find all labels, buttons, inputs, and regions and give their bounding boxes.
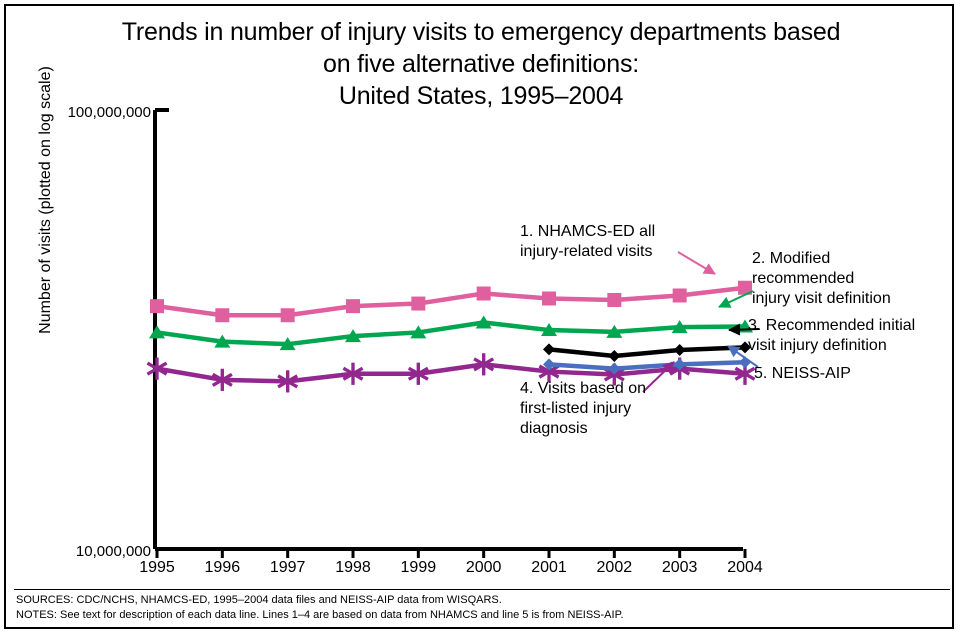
x-axis-tick-label-1996: 1996 — [192, 559, 252, 577]
series-2 — [149, 316, 753, 351]
footer-notes: SOURCES: CDC/NCHS, NHAMCS-ED, 1995–2004 … — [16, 593, 946, 623]
footer-divider — [14, 589, 950, 590]
arrow-to-series-2 — [719, 291, 753, 307]
annotation-series-3: 3. Recommended initial visit injury defi… — [748, 316, 948, 356]
axis-lines — [155, 110, 743, 549]
x-axis-tick-label-2000: 2000 — [454, 559, 514, 577]
chart-frame: Trends in number of injury visits to eme… — [4, 4, 954, 629]
annotation-series-3-line-1: 3. Recommended initial — [748, 316, 948, 336]
y-axis-bottom-tick-label: 10,000,000 — [46, 543, 151, 560]
x-axis-tick-label-2003: 2003 — [650, 559, 710, 577]
series-3 — [543, 341, 751, 362]
x-axis-tick-label-1998: 1998 — [323, 559, 383, 577]
annotation-series-5-line-1: 5. NEISS-AIP — [754, 364, 944, 384]
annotation-series-2: 2. Modified recommended injury visit def… — [752, 249, 952, 309]
annotation-series-1-line-1: 1. NHAMCS-ED all — [520, 222, 700, 242]
chart-title: Trends in number of injury visits to eme… — [36, 16, 926, 112]
annotation-series-1-line-2: injury-related visits — [520, 242, 700, 262]
footer-notes-line: NOTES: See text for description of each … — [16, 608, 946, 623]
footer-sources: SOURCES: CDC/NCHS, NHAMCS-ED, 1995–2004 … — [16, 593, 946, 608]
x-axis-tick-label-1995: 1995 — [127, 559, 187, 577]
x-axis-tick-label-2004: 2004 — [715, 559, 775, 577]
annotation-series-2-line-1: 2. Modified — [752, 249, 952, 269]
annotation-series-2-line-2: recommended — [752, 269, 952, 289]
chart-title-line-2: on five alternative definitions: — [36, 48, 926, 80]
chart-title-line-1: Trends in number of injury visits to eme… — [36, 16, 926, 48]
data-series-layer — [147, 281, 754, 393]
annotation-series-3-line-2: visit injury definition — [748, 336, 948, 356]
x-axis-tick-label-2001: 2001 — [519, 559, 579, 577]
x-axis-tick-label-1997: 1997 — [258, 559, 318, 577]
series-5 — [543, 356, 751, 374]
annotation-series-4-line-1: 4. Visits based on — [520, 379, 710, 399]
annotation-series-1: 1. NHAMCS-ED all injury-related visits — [520, 222, 700, 262]
x-axis-tick-label-1999: 1999 — [388, 559, 448, 577]
series-1 — [150, 281, 752, 323]
x-axis-ticks — [157, 549, 745, 558]
annotation-series-2-line-3: injury visit definition — [752, 289, 952, 309]
annotation-series-4-line-2: first-listed injury — [520, 399, 710, 419]
y-axis-label: Number of visits (plotted on log scale) — [37, 0, 55, 420]
annotation-arrows — [643, 252, 759, 392]
annotation-series-4: 4. Visits based on first-listed injury d… — [520, 379, 710, 439]
annotation-series-5: 5. NEISS-AIP — [754, 364, 944, 384]
x-axis-tick-label-2002: 2002 — [584, 559, 644, 577]
y-axis-top-tick-label: 100,000,000 — [46, 104, 151, 121]
chart-title-line-3: United States, 1995–2004 — [36, 80, 926, 112]
annotation-series-4-line-3: diagnosis — [520, 419, 710, 439]
